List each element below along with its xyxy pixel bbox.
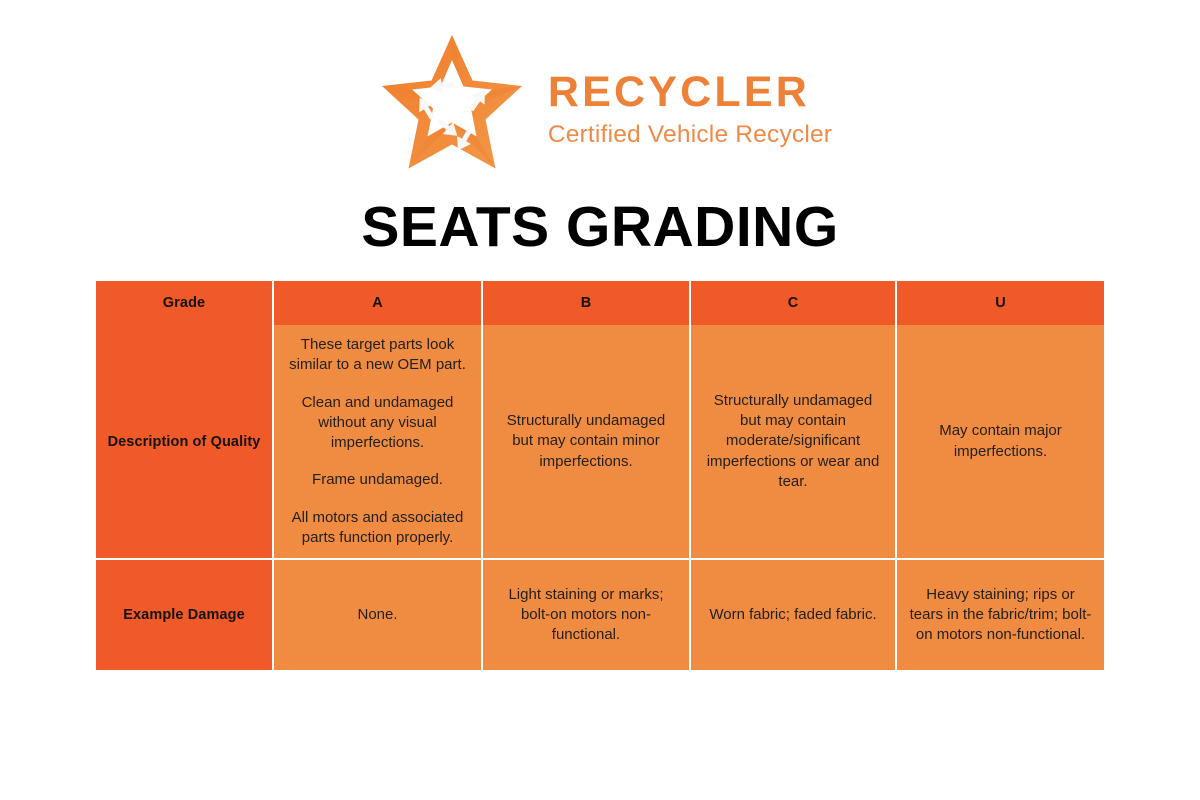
cell-paragraph: None. — [286, 605, 469, 625]
logo-name: RECYCLER — [548, 71, 832, 115]
logo-tagline: Certified Vehicle Recycler — [548, 118, 832, 151]
cell-paragraph: Structurally undamaged but may contain m… — [495, 411, 677, 472]
column-header-u: U — [897, 281, 1104, 325]
cell-paragraph: Worn fabric; faded fabric. — [703, 605, 883, 625]
table-row-example-damage: Example Damage None. Light staining or m… — [96, 560, 1104, 670]
column-header-a: A — [274, 281, 483, 325]
cell-description-c: Structurally undamaged but may contain m… — [691, 325, 897, 560]
row-label-example-damage: Example Damage — [96, 560, 274, 670]
seats-grading-page: RECYCLER Certified Vehicle Recycler SEAT… — [0, 0, 1200, 800]
cell-paragraph: All motors and associated parts function… — [286, 508, 469, 549]
column-header-c: C — [691, 281, 897, 325]
cell-damage-u: Heavy staining; rips or tears in the fab… — [897, 560, 1104, 670]
row-label-description-of-quality: Description of Quality — [96, 325, 274, 560]
cell-paragraph: Structurally undamaged but may contain m… — [703, 391, 883, 492]
cell-damage-c: Worn fabric; faded fabric. — [691, 560, 897, 670]
table-row-description-of-quality: Description of Quality These target part… — [96, 325, 1104, 560]
cell-paragraph: Clean and undamaged without any visual i… — [286, 393, 469, 454]
cell-damage-a: None. — [274, 560, 483, 670]
page-title: SEATS GRADING — [0, 196, 1200, 259]
cell-paragraph: These target parts look similar to a new… — [286, 335, 469, 376]
column-header-b: B — [483, 281, 691, 325]
table-header-row: Grade A B C U — [96, 281, 1104, 325]
cell-description-b: Structurally undamaged but may contain m… — [483, 325, 691, 560]
cell-description-u: May contain major imperfections. — [897, 325, 1104, 560]
cell-paragraph: May contain major imperfections. — [909, 421, 1092, 462]
logo-wordmark: RECYCLER Certified Vehicle Recycler — [548, 59, 832, 152]
column-header-grade: Grade — [96, 281, 274, 325]
cell-damage-b: Light staining or marks; bolt-on motors … — [483, 560, 691, 670]
cell-paragraph: Light staining or marks; bolt-on motors … — [495, 585, 677, 646]
cell-description-a: These target parts look similar to a new… — [274, 325, 483, 560]
recycling-star-logo-icon — [368, 33, 536, 178]
seats-grading-table: Grade A B C U Description of Quality The… — [96, 281, 1104, 670]
cell-paragraph: Heavy staining; rips or tears in the fab… — [909, 585, 1092, 646]
cell-paragraph: Frame undamaged. — [286, 470, 469, 490]
brand-logo: RECYCLER Certified Vehicle Recycler — [0, 30, 1200, 180]
